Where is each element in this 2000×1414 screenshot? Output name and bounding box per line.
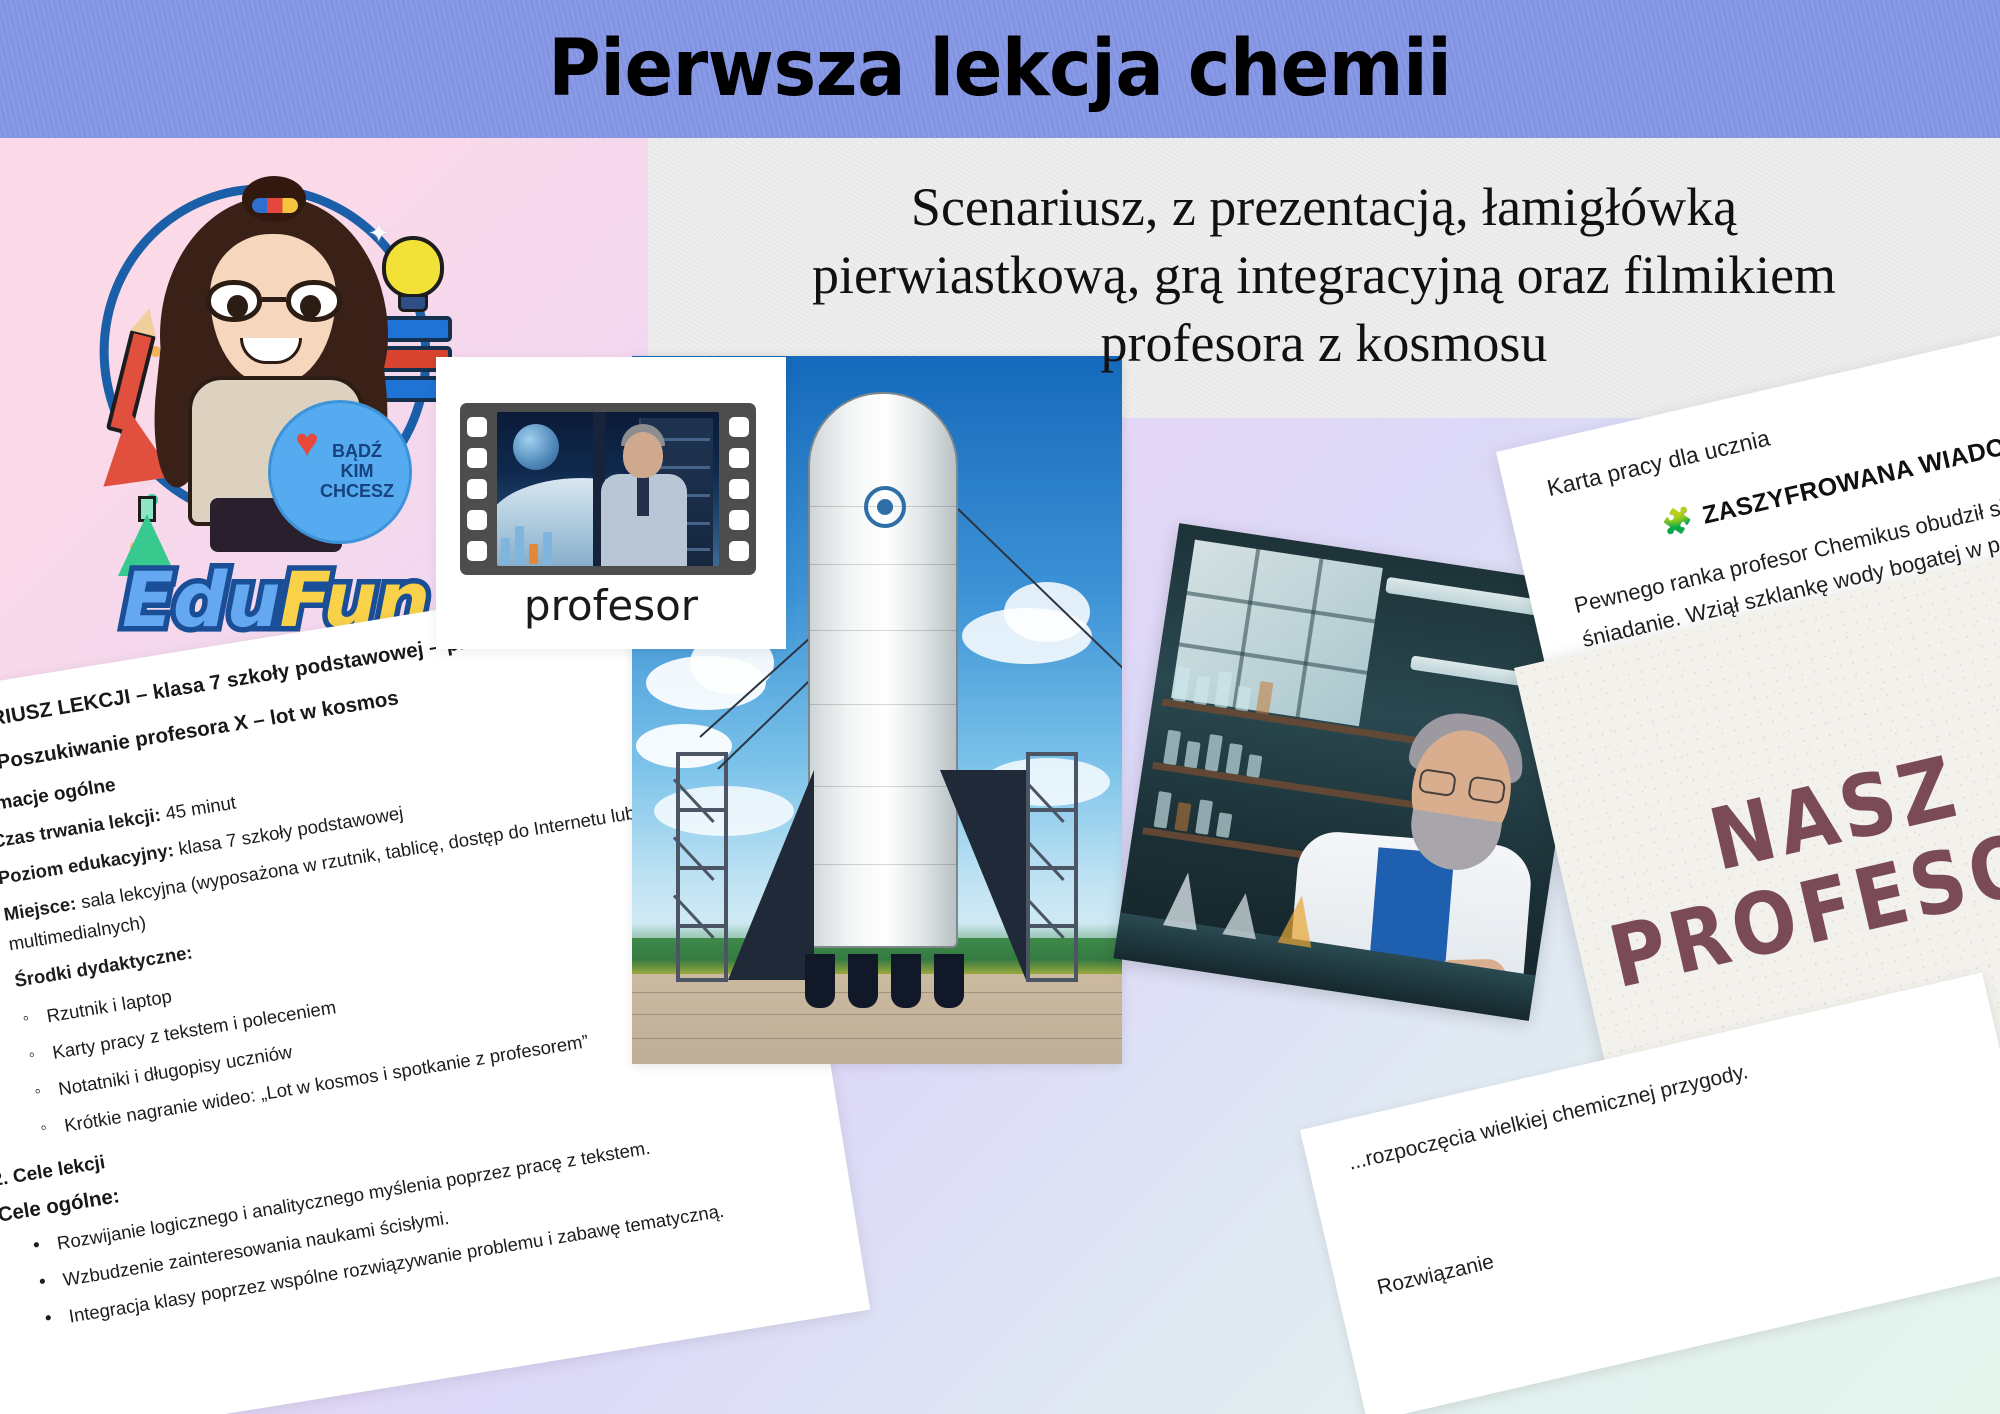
professor-laboratory-image[interactable]: [1113, 523, 1594, 1021]
fragment-line-2: Rozwiązanie: [1374, 1131, 1986, 1305]
erlenmeyer-flask-icon: [1163, 870, 1205, 930]
film-card-label: profesor: [436, 585, 786, 627]
subtitle-text: Scenariusz, z prezentacją, łamigłówką pi…: [812, 173, 1836, 377]
page-title: Pierwsza lekcja chemii: [548, 30, 1451, 108]
film-perforations-right: [722, 412, 756, 566]
film-strip-icon: [460, 403, 756, 575]
rocket-wing-left: [728, 770, 814, 980]
subtitle-line-2: pierwiastkową, grą integracyjną oraz fil…: [812, 241, 1836, 309]
launch-tower-right: [1026, 752, 1078, 982]
rocket-wing-right: [940, 770, 1026, 980]
glasses-icon: [206, 280, 342, 322]
nasz-profesor-text: NASZ PROFESOR: [1581, 712, 2000, 1004]
brand-edu: Edu: [122, 555, 279, 644]
heart-icon: ♥: [285, 425, 329, 465]
badge-line-3: CHCESZ: [320, 482, 394, 502]
rocket-body: [808, 392, 958, 948]
poster-canvas: Pierwsza lekcja chemii Scenariusz, z pre…: [0, 0, 2000, 1414]
header-band: Pierwsza lekcja chemii: [0, 0, 2000, 138]
puzzle-icon: 🧩: [1659, 504, 1696, 538]
subtitle-line-1: Scenariusz, z prezentacją, łamigłówką: [812, 173, 1836, 241]
subtitle-line-3: profesora z kosmosu: [812, 309, 1836, 377]
badge-line-2: KIM: [320, 462, 394, 482]
professor-in-space-station-thumbnail: [497, 412, 719, 566]
badge-line-1: BĄDŹ: [320, 442, 394, 462]
erlenmeyer-flask-icon: [1222, 891, 1262, 940]
rocket-emblem-icon: [864, 486, 906, 528]
edufun-logo: ✦ ✦ ✦ ✦: [62, 148, 482, 648]
film-perforations-left: [460, 412, 494, 566]
subtitle-panel: Scenariusz, z prezentacją, łamigłówką pi…: [648, 138, 2000, 418]
lightbulb-base-icon: [398, 294, 428, 312]
video-preview-card[interactable]: profesor: [436, 357, 786, 649]
launch-tower-left: [676, 752, 728, 982]
badge-badz-kim-chcesz: ♥ BĄDŹ KIM CHCESZ: [268, 400, 412, 544]
rocket-nozzles: [798, 954, 970, 1008]
